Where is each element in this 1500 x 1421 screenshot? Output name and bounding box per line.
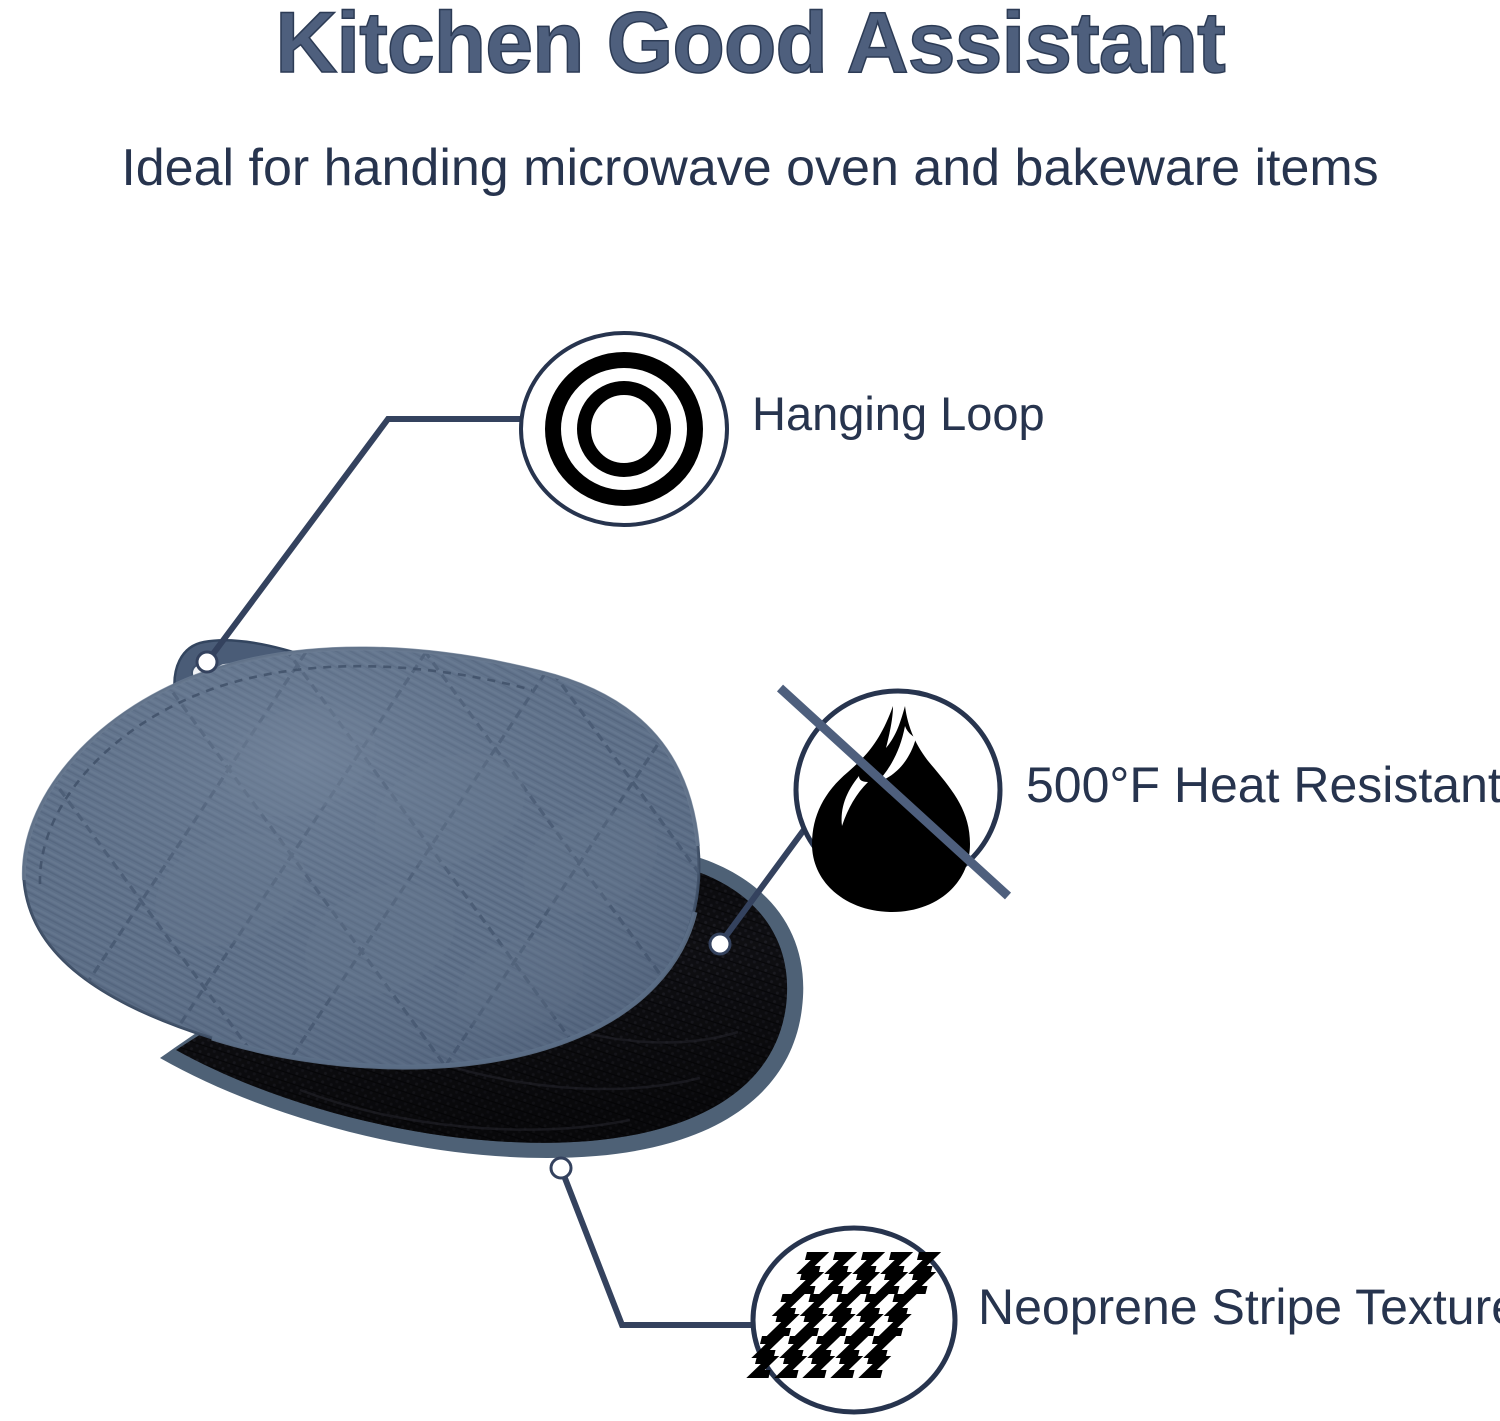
product-infographic-page: Kitchen Good Assistant Ideal for handing…: [0, 0, 1500, 1421]
product-diagram: [0, 0, 1500, 1421]
callout-label-neoprene-texture: Neoprene Stripe Texture: [978, 1282, 1500, 1332]
callout-hanging-loop: [521, 333, 727, 525]
anchor-dot-heat-resistant: [710, 934, 730, 954]
oven-mitt-illustration: [0, 540, 860, 1240]
callout-heat-resistant: [780, 688, 1008, 912]
leader-line-neoprene: [561, 1168, 755, 1325]
callout-label-hanging-loop: Hanging Loop: [752, 390, 1045, 437]
callout-neoprene-texture: [753, 1228, 955, 1412]
anchor-dot-hanging-loop: [197, 652, 217, 672]
leader-line-hanging-loop: [207, 419, 525, 662]
anchor-dot-neoprene: [551, 1158, 571, 1178]
callout-label-heat-resistant: 500°F Heat Resistant: [1026, 760, 1500, 810]
